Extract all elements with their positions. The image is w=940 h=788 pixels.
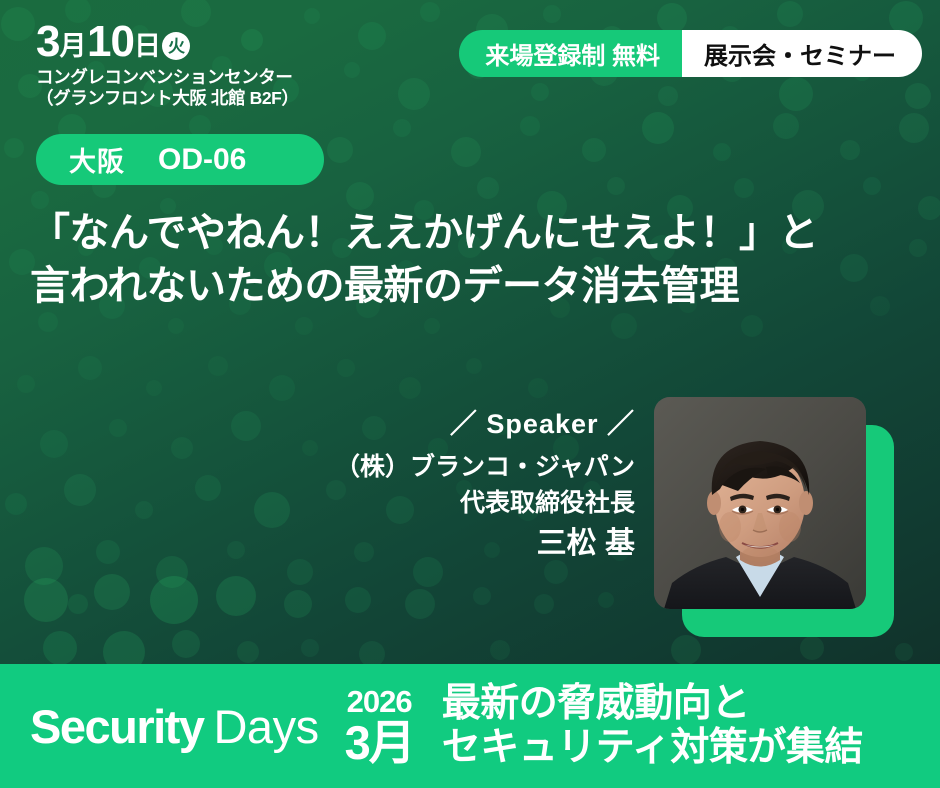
page-title: 「なんでやねん！ええかげんにせえよ！」と 言われないための最新のデータ消去管理 — [30, 208, 920, 312]
event-month-number: 3 — [36, 22, 59, 62]
footer-bar: Security Days 2026 3月 最新の脅威動向と セキュリティ対策が… — [0, 664, 940, 788]
footer-tagline-line-2: セキュリティ対策が集結 — [442, 726, 863, 770]
event-month-unit: 月 — [59, 33, 86, 62]
footer-tagline: 最新の脅威動向と セキュリティ対策が集結 — [442, 682, 863, 771]
speaker-portrait-photo — [654, 397, 866, 609]
venue-address: （グランフロント大阪 北館 B2F） — [36, 90, 299, 108]
brand-logo-secondary: Days — [213, 699, 318, 754]
session-city: 大阪 — [69, 140, 125, 179]
speaker-role: 代表取締役社長 — [335, 487, 635, 520]
event-day-unit: 日 — [134, 33, 161, 62]
footer-tagline-line-1: 最新の脅威動向と — [442, 682, 863, 726]
header-badge-group: 来場登録制 無料 展示会・セミナー — [459, 30, 922, 77]
speaker-info: ／ Speaker ／ （株）ブランコ・ジャパン 代表取締役社長 三松 基 — [335, 408, 635, 562]
brand-logo-primary: Security — [30, 699, 203, 754]
speaker-label: ／ Speaker ／ — [335, 408, 635, 442]
event-type-badge: 展示会・セミナー — [682, 30, 922, 77]
event-date-line: 3 月 10 日 火 — [36, 22, 299, 62]
speaker-company: （株）ブランコ・ジャパン — [335, 451, 635, 484]
footer-date: 2026 3月 — [345, 686, 414, 766]
footer-month: 3月 — [345, 719, 414, 766]
seminar-poster: 3 月 10 日 火 コングレコンベンションセンター （グランフロント大阪 北館… — [0, 0, 940, 788]
day-of-week-badge: 火 — [162, 32, 190, 60]
event-date-block: 3 月 10 日 火 コングレコンベンションセンター （グランフロント大阪 北館… — [36, 22, 299, 107]
session-code: OD-06 — [158, 143, 246, 177]
venue-name: コングレコンベンションセンター — [36, 69, 299, 87]
title-line-1: 「なんでやねん！ええかげんにせえよ！」と — [30, 208, 920, 259]
title-line-2: 言われないための最新のデータ消去管理 — [30, 261, 920, 312]
admission-badge: 来場登録制 無料 — [459, 30, 682, 77]
event-day-number: 10 — [87, 22, 134, 62]
session-badge: 大阪 OD-06 — [36, 134, 324, 185]
footer-year: 2026 — [345, 686, 414, 717]
speaker-name: 三松 基 — [335, 525, 635, 563]
brand-logo: Security Days — [30, 699, 319, 754]
speaker-photo-frame — [654, 397, 894, 637]
